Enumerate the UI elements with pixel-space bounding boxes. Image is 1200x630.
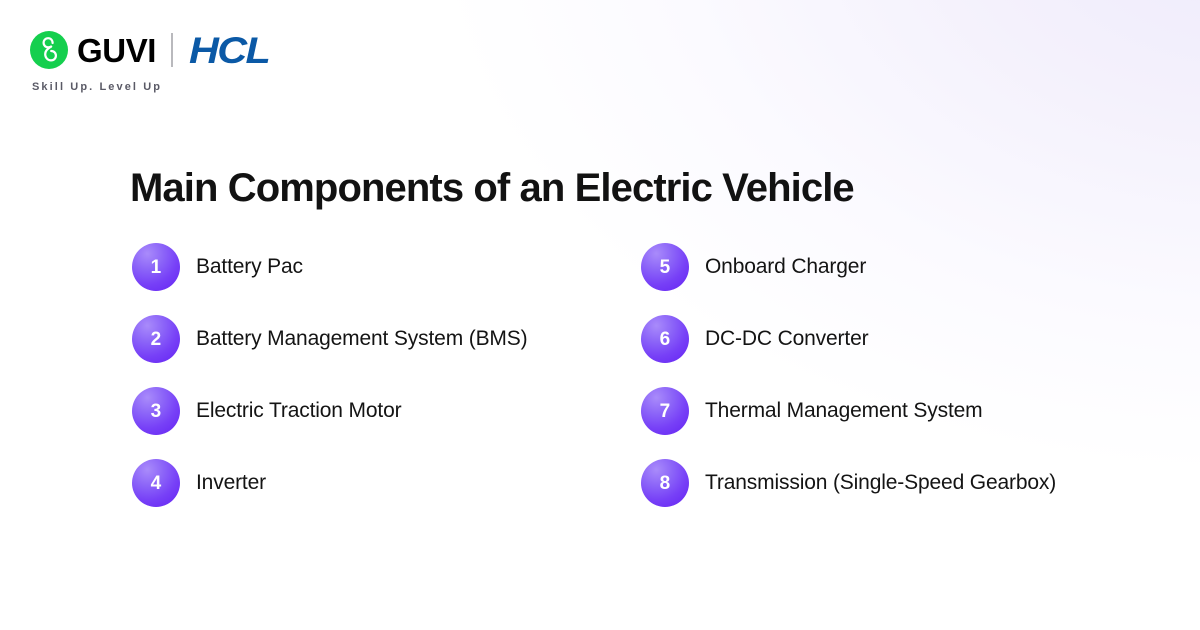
number-badge: 3	[132, 387, 180, 435]
number-badge: 2	[132, 315, 180, 363]
list-item-label: Battery Pac	[196, 254, 303, 279]
number-badge: 8	[641, 459, 689, 507]
hcl-wordmark: HCL	[189, 32, 269, 69]
list-item-label: Battery Management System (BMS)	[196, 326, 527, 351]
list-item: 5 Onboard Charger	[641, 243, 1122, 291]
infographic-page: GUVI HCL Skill Up. Level Up Main Compone…	[0, 0, 1200, 630]
badge-number: 2	[151, 330, 162, 349]
number-badge: 7	[641, 387, 689, 435]
page-title: Main Components of an Electric Vehicle	[130, 166, 854, 211]
badge-number: 4	[151, 474, 162, 493]
brand-tagline: Skill Up. Level Up	[32, 81, 450, 93]
badge-number: 6	[660, 330, 671, 349]
list-item-label: Onboard Charger	[705, 254, 866, 279]
component-list: 1 Battery Pac 5 Onboard Charger 2 Batter…	[132, 243, 1142, 507]
list-item: 1 Battery Pac	[132, 243, 613, 291]
list-item: 2 Battery Management System (BMS)	[132, 315, 613, 363]
list-item: 8 Transmission (Single-Speed Gearbox)	[641, 459, 1122, 507]
guvi-g-mark-icon	[30, 31, 68, 69]
brand-divider	[171, 33, 173, 67]
number-badge: 6	[641, 315, 689, 363]
list-item-label: DC-DC Converter	[705, 326, 868, 351]
list-item: 6 DC-DC Converter	[641, 315, 1122, 363]
number-badge: 5	[641, 243, 689, 291]
number-badge: 4	[132, 459, 180, 507]
list-item-label: Thermal Management System	[705, 398, 983, 423]
badge-number: 8	[660, 474, 671, 493]
list-item-label: Electric Traction Motor	[196, 398, 401, 423]
badge-number: 7	[660, 402, 671, 421]
brand-row: GUVI HCL	[30, 28, 450, 72]
list-item: 7 Thermal Management System	[641, 387, 1122, 435]
brand-lockup: GUVI HCL Skill Up. Level Up	[30, 28, 450, 93]
badge-number: 5	[660, 258, 671, 277]
list-item: 3 Electric Traction Motor	[132, 387, 613, 435]
badge-number: 1	[151, 258, 162, 277]
list-item: 4 Inverter	[132, 459, 613, 507]
badge-number: 3	[151, 402, 162, 421]
list-item-label: Transmission (Single-Speed Gearbox)	[705, 470, 1056, 495]
number-badge: 1	[132, 243, 180, 291]
list-item-label: Inverter	[196, 470, 266, 495]
guvi-wordmark: GUVI	[77, 34, 156, 67]
